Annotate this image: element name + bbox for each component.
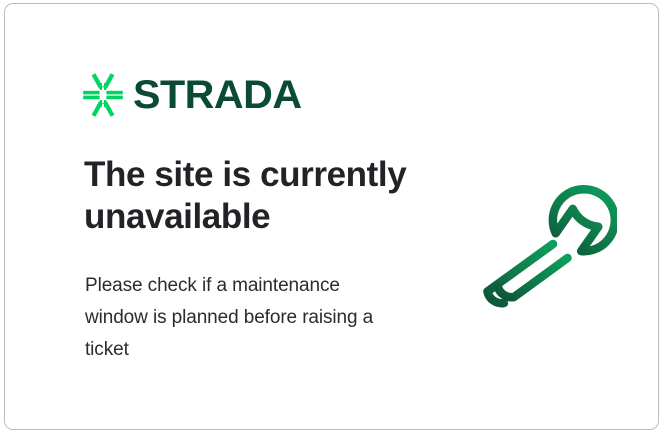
brand-wordmark: STRADA [133,75,302,115]
strada-asterisk-logo-mark [83,73,123,117]
brand-logo-lockup: STRADA [83,72,297,118]
wrench-icon [457,154,617,314]
error-page: STRADA The site is currently unavailable… [0,0,666,436]
status-card: STRADA The site is currently unavailable… [4,3,659,430]
status-description: Please check if a maintenance window is … [85,270,405,366]
page-title: The site is currently unavailable [84,154,424,238]
